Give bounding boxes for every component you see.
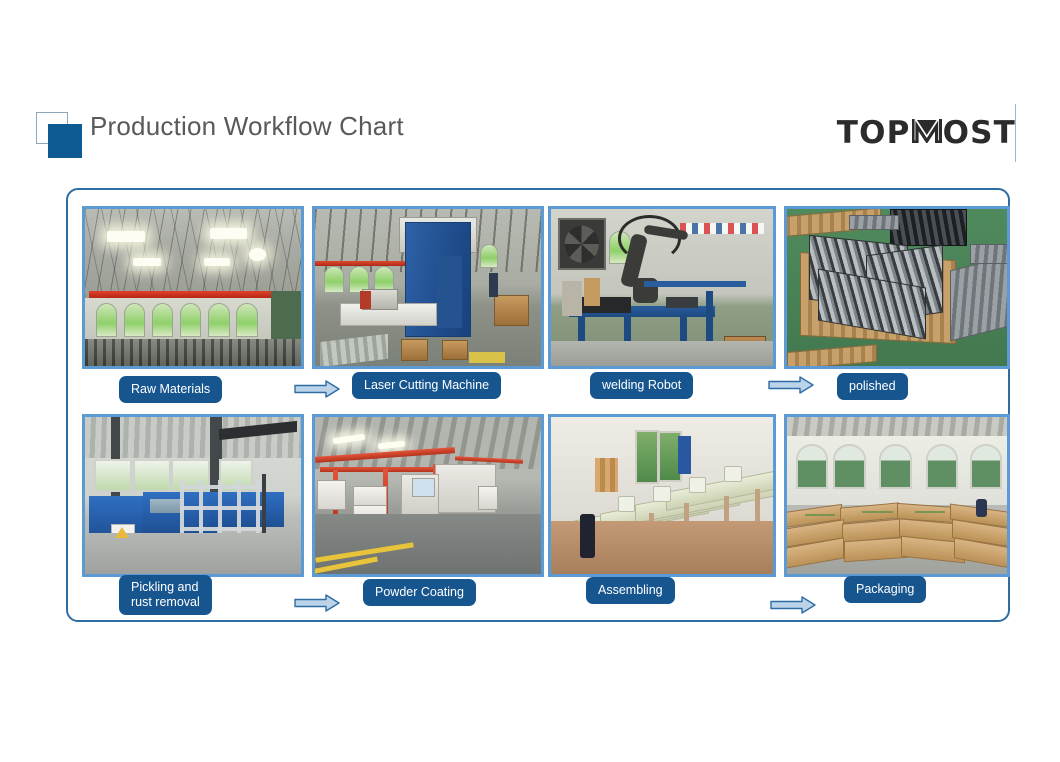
powder-coating-line-photo <box>312 414 544 577</box>
brand-wordmark: TOP OST <box>837 117 1016 149</box>
workflow-container: Raw Materials <box>66 188 1010 622</box>
workflow-step-powder-coating[interactable]: Powder Coating <box>304 404 540 614</box>
workflow-step-polished[interactable]: polished <box>776 196 1012 406</box>
polished-parts-photo <box>784 206 1010 369</box>
page-title: Production Workflow Chart <box>90 111 404 142</box>
step-label[interactable]: polished <box>837 373 908 400</box>
step-label[interactable]: Assembling <box>586 577 675 604</box>
workflow-row-2: Pickling and rust removal <box>68 404 1012 614</box>
workflow-row-1: Raw Materials <box>68 196 1012 406</box>
page-header: Production Workflow Chart TOP OST <box>0 96 1060 168</box>
workflow-step-laser-cutting[interactable]: Laser Cutting Machine <box>304 196 540 406</box>
step-label[interactable]: Powder Coating <box>363 579 476 606</box>
workflow-step-welding-robot[interactable]: welding Robot <box>540 196 776 406</box>
workshop-hall-photo <box>82 206 304 369</box>
workflow-step-packaging[interactable]: Packaging <box>776 404 1012 614</box>
brand-divider <box>1015 104 1016 162</box>
title-decoration <box>36 112 86 158</box>
workflow-step-pickling[interactable]: Pickling and rust removal <box>68 404 304 614</box>
brand-m-glyph-icon <box>912 117 942 143</box>
step-label[interactable]: Laser Cutting Machine <box>352 372 501 399</box>
welding-robot-photo <box>548 206 776 369</box>
brand-text-top: TOP <box>837 118 911 149</box>
step-label[interactable]: Pickling and rust removal <box>119 575 212 615</box>
step-label[interactable]: Packaging <box>844 576 926 603</box>
workflow-step-assembling[interactable]: Assembling <box>540 404 776 614</box>
brand-logo: TOP OST <box>837 104 1016 162</box>
packaged-cartons-photo <box>784 414 1010 577</box>
assembly-benches-photo <box>548 414 776 577</box>
workflow-step-raw-materials[interactable]: Raw Materials <box>68 196 304 406</box>
laser-cutting-machine-photo <box>312 206 544 369</box>
pickling-tanks-photo <box>82 414 304 577</box>
square-solid-icon <box>48 124 82 158</box>
brand-text-ost: OST <box>943 118 1016 149</box>
step-label[interactable]: Raw Materials <box>119 376 222 403</box>
step-label[interactable]: welding Robot <box>590 372 693 399</box>
